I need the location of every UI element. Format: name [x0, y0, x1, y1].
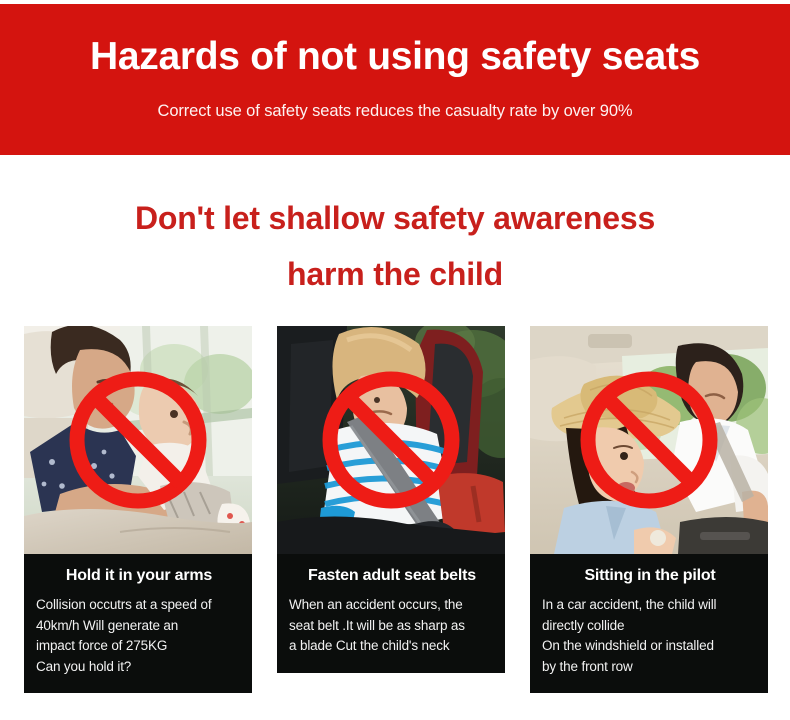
page-title: Hazards of not using safety seats: [90, 34, 700, 80]
hazard-card-hold-in-arms: Hold it in your arms Collision occutrs a…: [24, 326, 252, 693]
photo-girl-front-passenger-seat: [530, 326, 768, 554]
infographic-page: Hazards of not using safety seats Correc…: [0, 0, 790, 720]
card-title: Sitting in the pilot: [542, 566, 758, 586]
section-headline: Don't let shallow safety awareness harm …: [0, 190, 790, 302]
hazard-card-front-seat: Sitting in the pilot In a car accident, …: [530, 326, 768, 693]
photo-mother-holding-baby: [24, 326, 252, 554]
header-banner: Hazards of not using safety seats Correc…: [0, 4, 790, 155]
hazard-card-row: Hold it in your arms Collision occutrs a…: [24, 326, 768, 704]
card-caption: Hold it in your arms Collision occutrs a…: [24, 554, 252, 693]
card-body: When an accident occurs, the seat belt .…: [289, 595, 495, 657]
headline-line-1: Don't let shallow safety awareness: [0, 190, 790, 246]
hazard-card-adult-seat-belt: Fasten adult seat belts When an accident…: [277, 326, 505, 673]
photo-child-adult-seatbelt: [277, 326, 505, 554]
card-caption: Sitting in the pilot In a car accident, …: [530, 554, 768, 693]
card-caption: Fasten adult seat belts When an accident…: [277, 554, 505, 673]
card-title: Hold it in your arms: [36, 566, 242, 586]
card-title: Fasten adult seat belts: [289, 566, 495, 586]
headline-line-2: harm the child: [0, 246, 790, 302]
card-body: In a car accident, the child will direct…: [542, 595, 758, 677]
banner-subtitle: Correct use of safety seats reduces the …: [158, 101, 633, 121]
card-body: Collision occutrs at a speed of 40km/h W…: [36, 595, 242, 677]
